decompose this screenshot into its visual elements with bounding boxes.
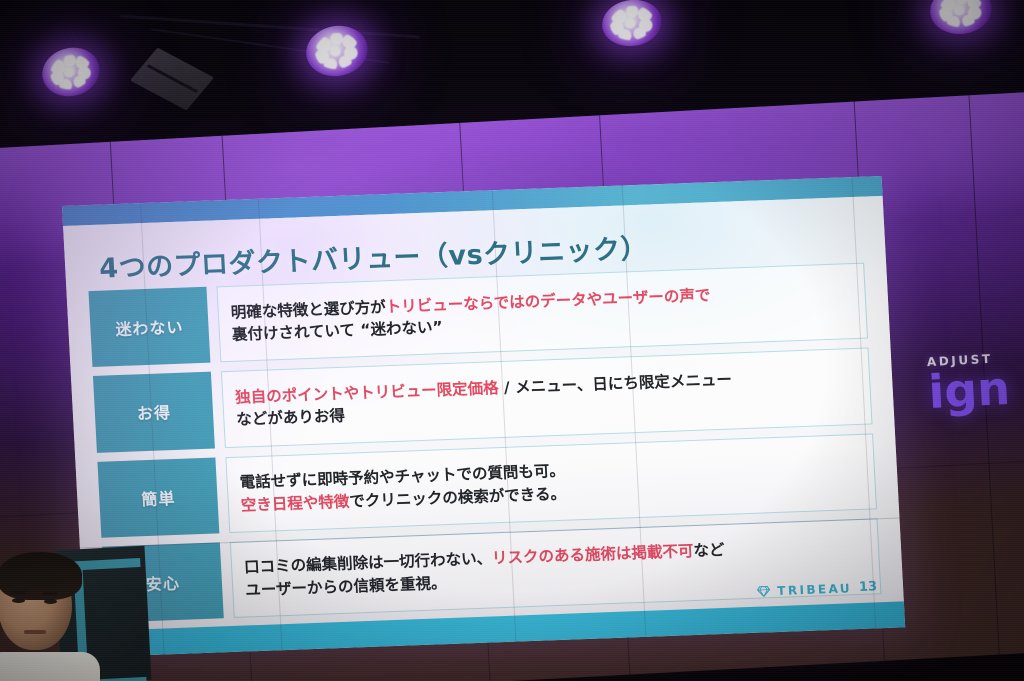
row-text: 裏付けされていて “迷わない”: [232, 318, 444, 344]
row-text: などがありお得: [236, 407, 345, 429]
row-text: など: [693, 541, 725, 560]
venue-signage: ADJUST ign: [927, 349, 1024, 414]
value-table: 迷わない 明確な特徴と選び方がトリビューならではのデータやユーザーの声で 裏付け…: [88, 263, 881, 623]
speaker-shirt: [0, 652, 100, 681]
conference-stage-photo: 4つのプロダクトバリュー（vsクリニック） 迷わない 明確な特徴と選び方がトリビ…: [0, 0, 1024, 681]
row-label-mayowanai: 迷わない: [88, 287, 210, 367]
row-text: 明確な特徴と選び方が: [230, 298, 386, 322]
page-number: 13: [859, 579, 878, 595]
row-text: でクリニックの検索ができる。: [349, 484, 567, 510]
speaker-person: [0, 556, 102, 681]
slide: 4つのプロダクトバリュー（vsクリニック） 迷わない 明確な特徴と選び方がトリビ…: [62, 176, 905, 657]
brand-name: TRIBEAU: [777, 581, 852, 598]
row-label-otoku: お得: [93, 372, 215, 452]
speaker-head: [0, 558, 72, 650]
signage-event-text: ign: [927, 365, 1024, 414]
row-body-otoku: 独自のポイントやトリビュー限定価格 / メニュー、日にち限定メニュー などがあり…: [221, 348, 873, 448]
row-text: ユーザーからの信頼を重視。: [245, 574, 447, 599]
row-text-accent: 空き日程や特徴: [240, 492, 349, 514]
row-body-kantan: 電話せずに即時予約やチャットでの質問も可。 空き日程や特徴でクリニックの検索がで…: [225, 433, 877, 533]
projection-screen: 4つのプロダクトバリュー（vsクリニック） 迷わない 明確な特徴と選び方がトリビ…: [62, 176, 905, 657]
diamond-icon: [757, 585, 771, 597]
row-label-kantan: 簡単: [97, 457, 219, 537]
